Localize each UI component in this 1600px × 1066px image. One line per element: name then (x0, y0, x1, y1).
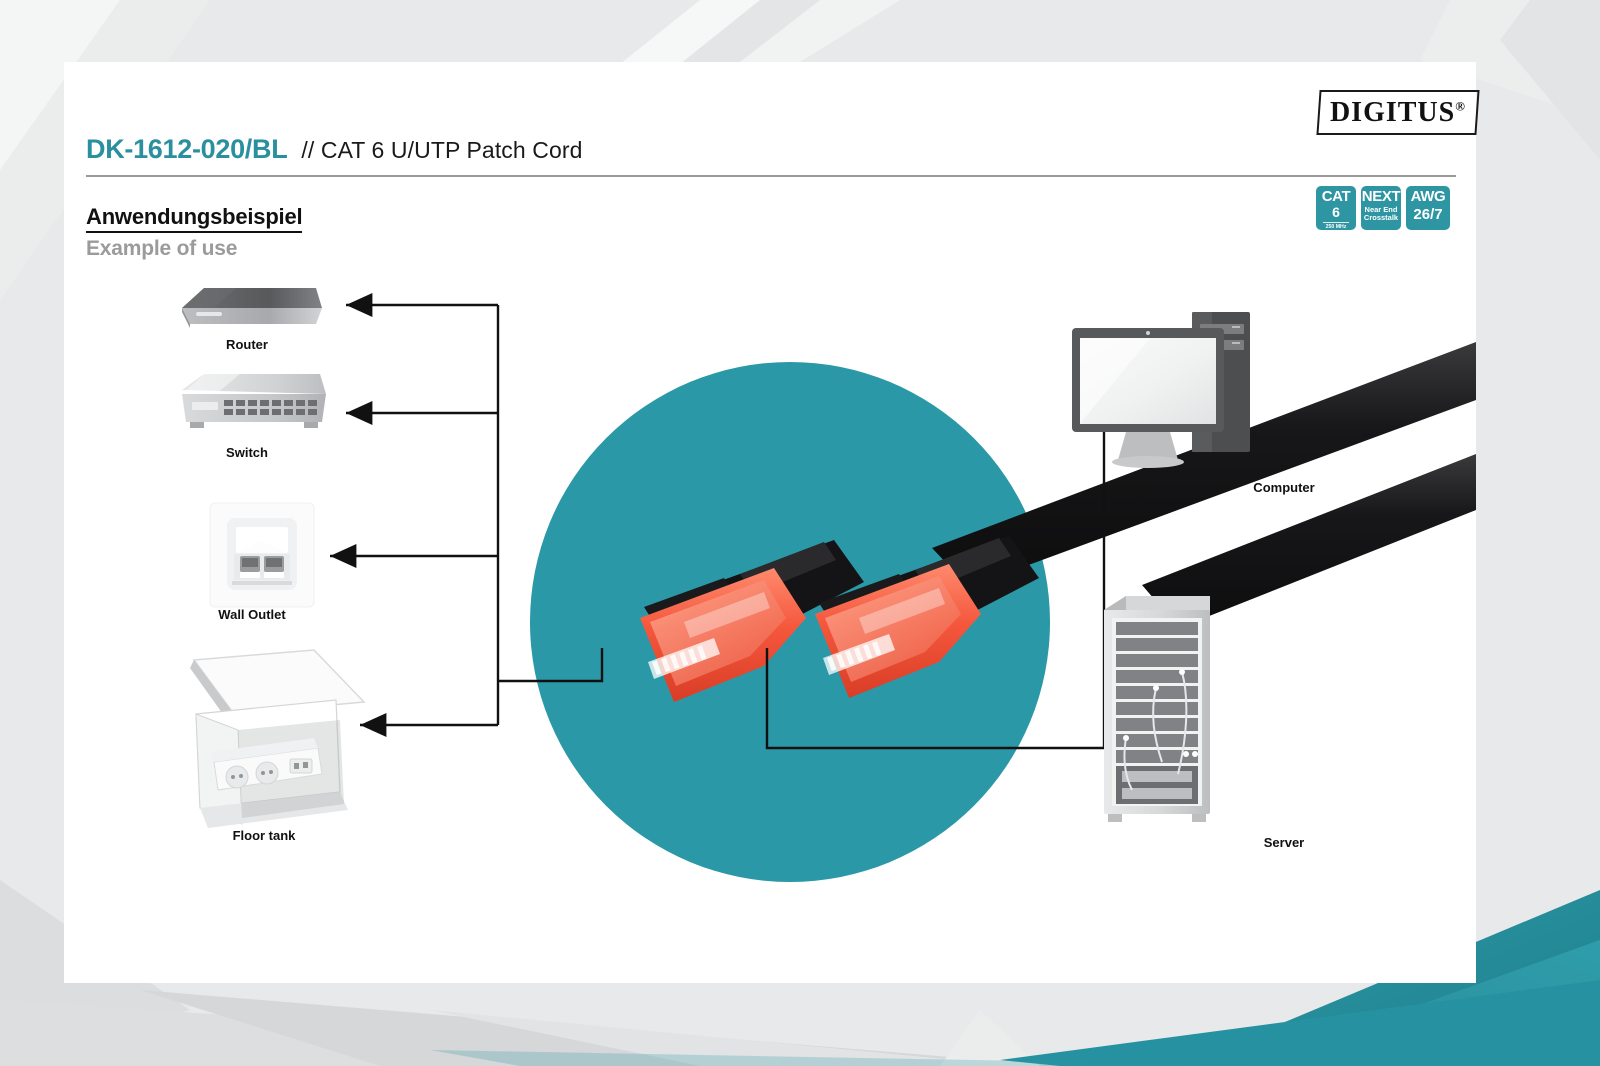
server-icon (1104, 596, 1210, 822)
computer-icon (1072, 312, 1250, 468)
device-label-router: Router (226, 337, 268, 352)
device-label-server: Server (1264, 835, 1304, 850)
content-panel: DIGITUS® DK-1612-020/BL // CAT 6 U/UTP P… (64, 62, 1476, 983)
device-label-switch: Switch (226, 445, 268, 460)
router-icon (182, 288, 322, 328)
device-label-wall-outlet: Wall Outlet (218, 607, 285, 622)
device-label-computer: Computer (1253, 480, 1314, 495)
wall-outlet-icon (210, 503, 314, 607)
floor-tank-icon (190, 650, 364, 828)
switch-icon (182, 374, 326, 428)
product-photo-circle (530, 342, 1476, 882)
application-diagram: Router Switch Wall Outlet Floor tank Com… (64, 62, 1476, 983)
device-label-floor-tank: Floor tank (233, 828, 296, 843)
